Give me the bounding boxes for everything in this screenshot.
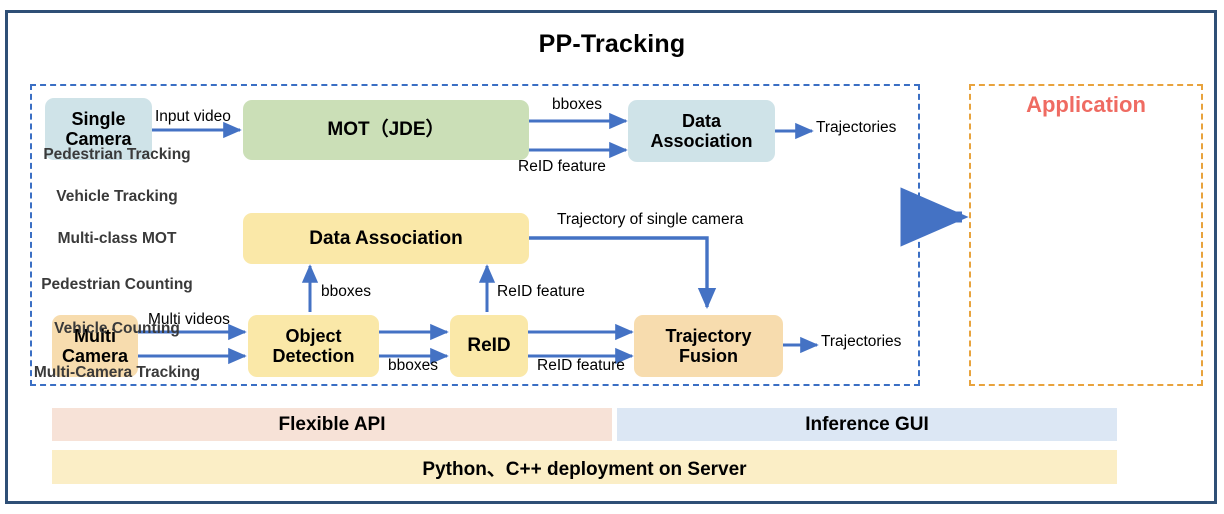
edge-label-reid-feature-bottom: ReID feature [537, 357, 625, 375]
edge-label-trajectories-bottom: Trajectories [821, 333, 901, 351]
diagram-canvas: PP-Tracking [0, 0, 1224, 514]
box-reid-label: ReID [467, 335, 510, 356]
box-mot-jde-label: MOT（JDE） [327, 119, 444, 140]
edge-label-bboxes-up: bboxes [321, 283, 371, 301]
edge-label-reid-feature-up: ReID feature [497, 283, 585, 301]
footer-bar-flexible-api-label: Flexible API [279, 414, 386, 436]
box-data-association-single[interactable]: DataAssociation [628, 100, 775, 162]
application-item-pedestrian-counting[interactable]: Pedestrian Counting [0, 276, 234, 294]
edge-label-input-video: Input video [155, 108, 231, 126]
application-item-multi-class-mot[interactable]: Multi-class MOT [0, 230, 234, 248]
footer-bar-deployment-label: Python、C++ deployment on Server [422, 454, 746, 481]
application-panel [969, 84, 1203, 386]
box-trajectory-fusion[interactable]: TrajectoryFusion [634, 315, 783, 377]
box-data-association-single-label: DataAssociation [650, 111, 752, 151]
footer-bar-deployment[interactable]: Python、C++ deployment on Server [52, 450, 1117, 484]
page-title: PP-Tracking [0, 30, 1224, 59]
edge-label-trajectories-top: Trajectories [816, 119, 896, 137]
footer-bar-inference-gui[interactable]: Inference GUI [617, 408, 1117, 441]
box-data-association-multi[interactable]: Data Association [243, 213, 529, 264]
footer-bar-inference-gui-label: Inference GUI [805, 414, 929, 436]
application-item-vehicle-tracking[interactable]: Vehicle Tracking [0, 188, 234, 206]
footer-bar-flexible-api[interactable]: Flexible API [52, 408, 612, 441]
edge-label-bboxes-top: bboxes [552, 96, 602, 114]
edge-label-reid-feature-top: ReID feature [518, 158, 606, 176]
box-mot-jde[interactable]: MOT（JDE） [243, 100, 529, 160]
box-data-association-multi-label: Data Association [309, 228, 462, 249]
edge-label-trajectory-single-camera: Trajectory of single camera [557, 211, 743, 229]
box-object-detection[interactable]: ObjectDetection [248, 315, 379, 377]
application-item-vehicle-counting[interactable]: Vehicle Counting [0, 320, 234, 338]
application-item-pedestrian-tracking[interactable]: Pedestrian Tracking [0, 146, 234, 164]
box-object-detection-label: ObjectDetection [272, 326, 354, 366]
box-reid[interactable]: ReID [450, 315, 528, 377]
box-single-camera-label: SingleCamera [65, 109, 131, 149]
edge-label-bboxes-bottom: bboxes [388, 357, 438, 375]
box-trajectory-fusion-label: TrajectoryFusion [665, 326, 751, 366]
application-item-multi-camera-tracking[interactable]: Multi-Camera Tracking [0, 364, 234, 382]
application-panel-title: Application [969, 92, 1203, 118]
